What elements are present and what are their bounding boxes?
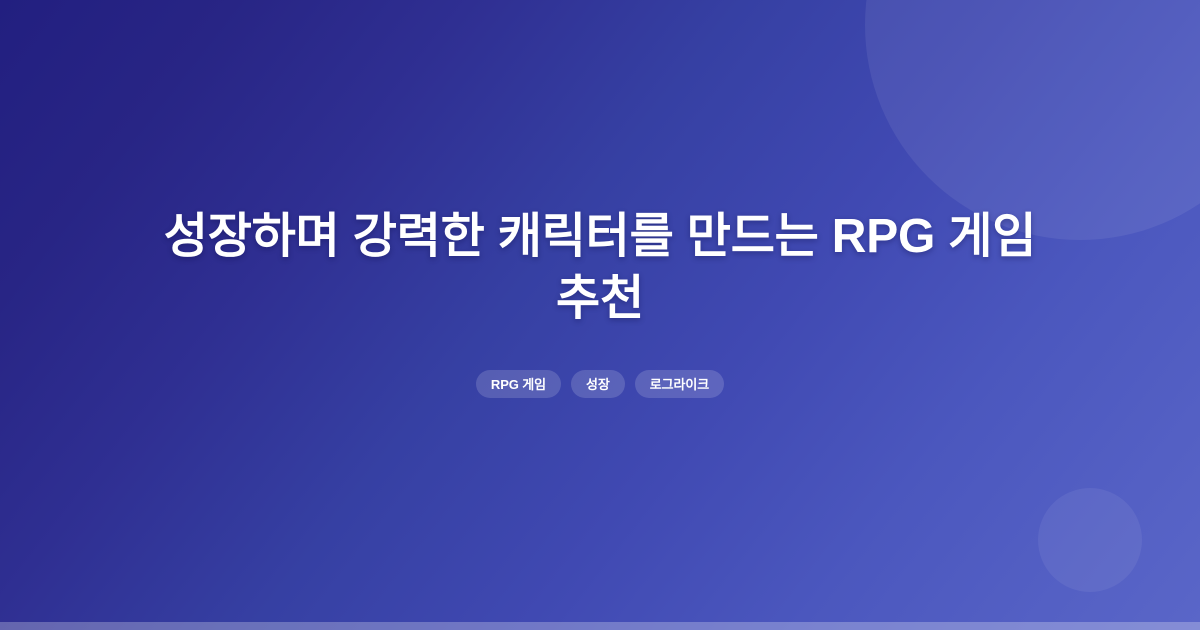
og-share-card: 성장하며 강력한 캐릭터를 만드는 RPG 게임 추천 RPG 게임 성장 로그… [0,0,1200,630]
page-title: 성장하며 강력한 캐릭터를 만드는 RPG 게임 추천 [120,206,1080,331]
tag-list: RPG 게임 성장 로그라이크 [476,370,724,398]
tag-pill-roguelike[interactable]: 로그라이크 [635,370,724,398]
tag-pill-growth[interactable]: 성장 [571,370,625,398]
tag-pill-rpg-game[interactable]: RPG 게임 [476,370,561,398]
card-content: 성장하며 강력한 캐릭터를 만드는 RPG 게임 추천 RPG 게임 성장 로그… [0,0,1200,630]
